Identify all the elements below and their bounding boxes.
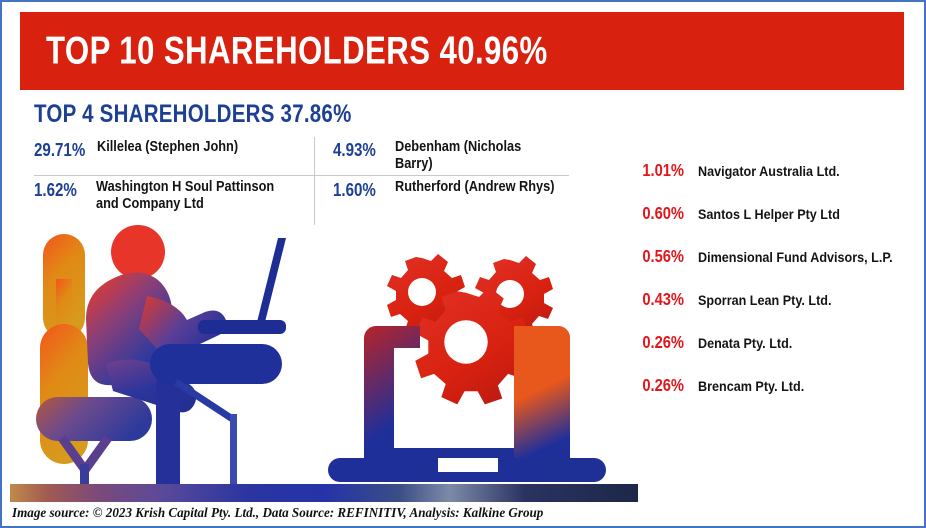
list-item-name: Santos L Helper Pty Ltd	[698, 206, 840, 222]
list-item-name: Navigator Australia Ltd.	[698, 163, 840, 179]
top4-percent: 29.71%	[34, 139, 85, 162]
top4-name: Killelea (Stephen John)	[97, 139, 238, 157]
top4-section: TOP 4 SHAREHOLDERS 37.86% 29.71% Killele…	[34, 100, 594, 225]
top4-row: 29.71% Killelea (Stephen John) 4.93% Deb…	[34, 135, 579, 175]
source-footer: Image source: © 2023 Krish Capital Pty. …	[12, 505, 885, 521]
list-item-percent: 1.01%	[632, 160, 684, 181]
list-item-percent: 0.60%	[632, 203, 684, 224]
list-item-name: Sporran Lean Pty. Ltd.	[698, 292, 831, 308]
top4-row: 1.62% Washington H Soul Pattinson and Co…	[34, 175, 579, 225]
top4-entry: 29.71% Killelea (Stephen John)	[34, 135, 307, 175]
header-banner: TOP 10 SHAREHOLDERS 40.96%	[20, 12, 904, 90]
list-item: 0.60% Santos L Helper Pty Ltd	[622, 203, 912, 246]
top4-title: TOP 4 SHAREHOLDERS 37.86%	[34, 100, 493, 129]
list-item-name: Brencam Pty. Ltd.	[698, 378, 804, 394]
top4-name: Debenham (Nicholas Barry)	[395, 139, 557, 174]
list-item-name: Dimensional Fund Advisors, L.P.	[698, 249, 893, 265]
top4-percent: 4.93%	[333, 139, 383, 162]
top4-name: Washington H Soul Pattinson and Company …	[96, 179, 281, 214]
top4-percent: 1.62%	[34, 179, 84, 202]
banner-title: TOP 10 SHAREHOLDERS 40.96%	[46, 32, 548, 71]
top4-grid: 29.71% Killelea (Stephen John) 4.93% Deb…	[34, 135, 579, 225]
list-item: 0.26% Brencam Pty. Ltd.	[622, 375, 912, 418]
laptop-with-gears-icon	[328, 254, 606, 482]
top4-entry: 1.60% Rutherford (Andrew Rhys)	[307, 175, 580, 225]
top4-percent: 1.60%	[333, 179, 383, 202]
ground-gradient-bar	[10, 484, 638, 502]
list-item: 0.43% Sporran Lean Pty. Ltd.	[622, 289, 912, 332]
top4-entry: 4.93% Debenham (Nicholas Barry)	[307, 135, 580, 175]
list-item-name: Denata Pty. Ltd.	[698, 335, 792, 351]
top4-entry: 1.62% Washington H Soul Pattinson and Co…	[34, 175, 307, 225]
remaining-shareholders-list: 1.01% Navigator Australia Ltd. 0.60% San…	[622, 160, 912, 418]
list-item: 1.01% Navigator Australia Ltd.	[622, 160, 912, 203]
top4-horizontal-divider	[34, 175, 569, 176]
illustration-area	[10, 224, 640, 494]
shareholders-infographic: TOP 10 SHAREHOLDERS 40.96% TOP 4 SHAREHO…	[0, 0, 926, 528]
top4-vertical-divider	[314, 137, 315, 225]
top4-name: Rutherford (Andrew Rhys)	[395, 179, 555, 197]
list-item: 0.56% Dimensional Fund Advisors, L.P.	[622, 246, 912, 289]
list-item: 0.26% Denata Pty. Ltd.	[622, 332, 912, 375]
